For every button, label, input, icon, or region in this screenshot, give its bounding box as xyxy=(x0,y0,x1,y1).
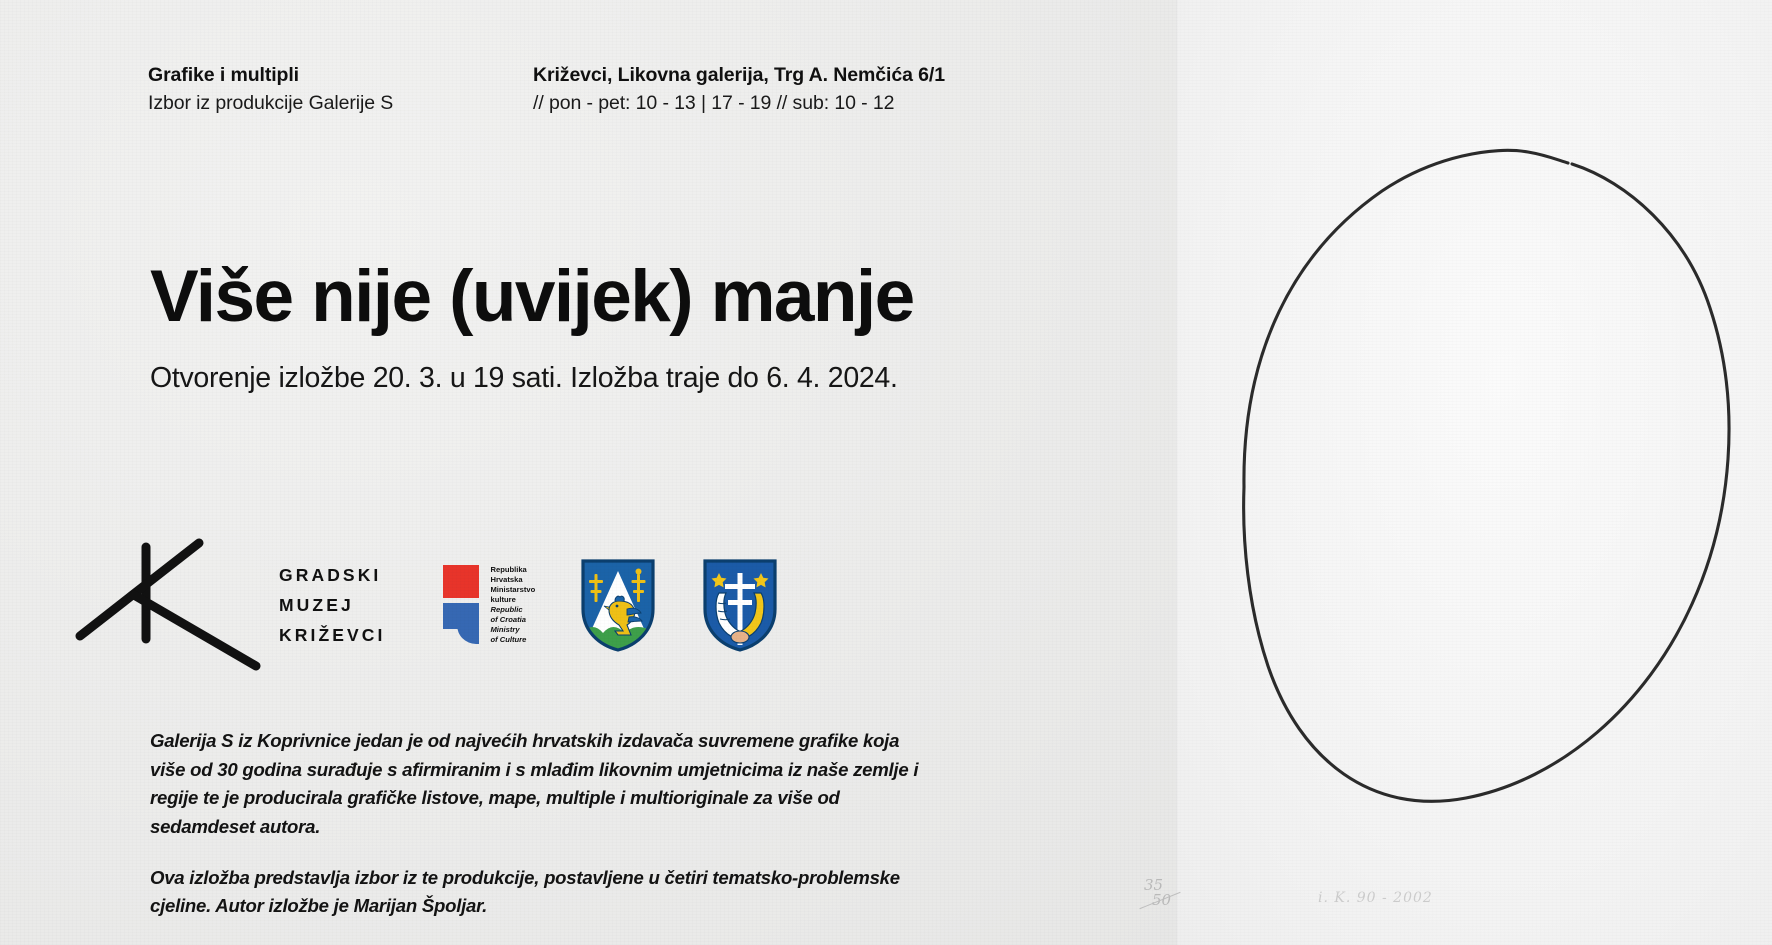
venue-address: Križevci, Likovna galerija, Trg A. Nemči… xyxy=(533,62,945,90)
exhibition-dates: Otvorenje izložbe 20. 3. u 19 sati. Izlo… xyxy=(150,362,898,395)
header-exhibition-kind: Grafike i multipli xyxy=(148,62,393,90)
museum-line-2: MUZEJ xyxy=(279,590,385,620)
logo-row: GRADSKI MUZEJ KRIŽEVCI Republika Hrvatsk… xyxy=(60,545,779,665)
ministry-hr-line-1: Republika xyxy=(490,565,535,575)
county-coat-of-arms-icon xyxy=(579,557,657,653)
ministry-wordmark: Republika Hrvatska Ministarstvo kulture … xyxy=(490,565,535,645)
ministry-en-line-1: Republic xyxy=(490,605,535,615)
artwork-panel xyxy=(1176,0,1772,945)
ministry-hr-line-2: Hrvatska xyxy=(490,575,535,585)
exhibition-title: Više nije (uvijek) manje xyxy=(150,260,914,333)
description-paragraph-2: Ova izložba predstavlja izbor iz te prod… xyxy=(150,864,930,921)
museum-line-1: GRADSKI xyxy=(279,560,385,590)
ministry-en-line-4: of Culture xyxy=(490,635,535,645)
description-paragraph-1: Galerija S iz Koprivnice jedan je od naj… xyxy=(150,727,930,842)
ministry-hr-line-4: kulture xyxy=(490,595,535,605)
header-exhibition-source: Izbor iz produkcije Galerije S xyxy=(148,90,393,118)
city-coat-of-arms-icon xyxy=(701,557,779,653)
ministry-en-line-3: Ministry xyxy=(490,625,535,635)
ministry-red-square-icon xyxy=(443,565,479,598)
hand-drawn-circle-artwork xyxy=(1176,0,1772,945)
museum-wordmark: GRADSKI MUZEJ KRIŽEVCI xyxy=(279,560,385,650)
ministry-hr-line-3: Ministarstvo xyxy=(490,585,535,595)
ministry-of-culture-logo: Republika Hrvatska Ministarstvo kulture … xyxy=(443,565,535,645)
ministry-mark-icon xyxy=(443,565,481,644)
museum-k-mark-icon xyxy=(60,535,275,675)
poster-canvas: Grafike i multipli Izbor iz produkcije G… xyxy=(0,0,1772,945)
edition-number-annotation: 35 50 xyxy=(1140,878,1171,908)
artist-signature-annotation: i. K. 90 - 2002 xyxy=(1318,890,1433,906)
opening-hours: // pon - pet: 10 - 13 | 17 - 19 // sub: … xyxy=(533,90,945,118)
ministry-en-line-2: of Croatia xyxy=(490,615,535,625)
ministry-blue-comma-icon xyxy=(443,603,479,644)
header-right-block: Križevci, Likovna galerija, Trg A. Nemči… xyxy=(533,62,945,117)
museum-line-3: KRIŽEVCI xyxy=(279,620,385,650)
description-text: Galerija S iz Koprivnice jedan je od naj… xyxy=(150,727,930,921)
header-left-block: Grafike i multipli Izbor iz produkcije G… xyxy=(148,62,393,117)
announcement-panel: Grafike i multipli Izbor iz produkcije G… xyxy=(0,0,1176,945)
